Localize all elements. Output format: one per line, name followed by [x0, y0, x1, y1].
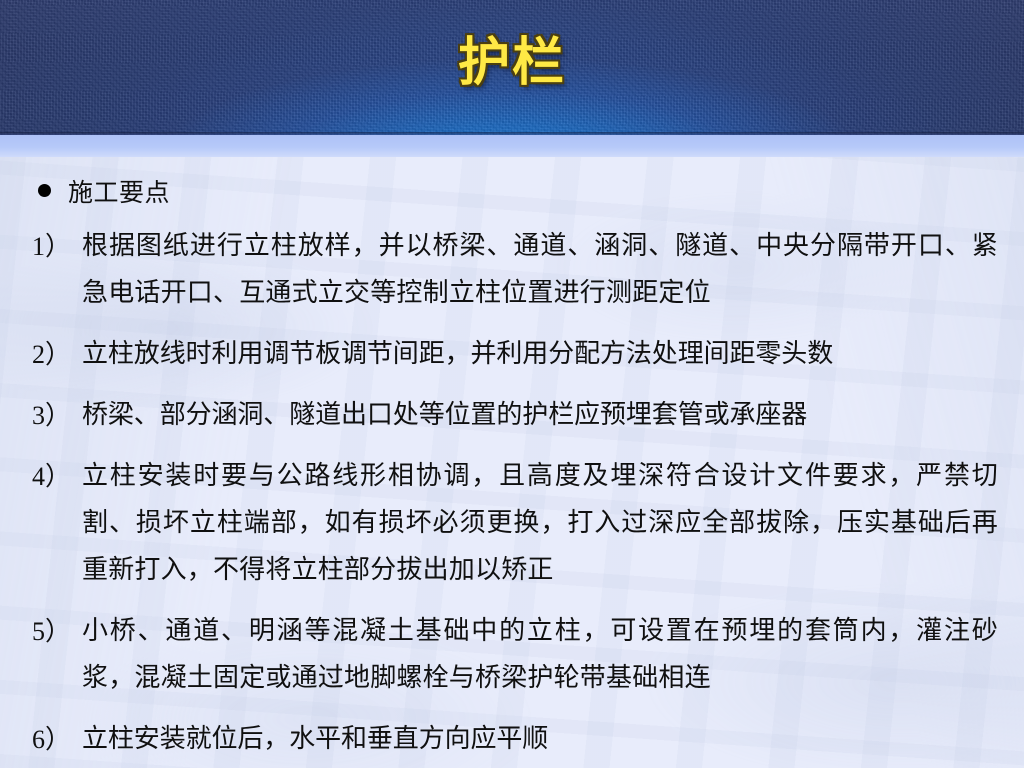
slide-content-area: 施工要点 1） 根据图纸进行立柱放样，并以桥梁、通道、涵洞、隧道、中央分隔带开口… — [0, 157, 1024, 768]
presentation-slide: 护栏 施工要点 1） 根据图纸进行立柱放样，并以桥梁、通道、涵洞、隧道、中央分隔… — [0, 0, 1024, 768]
section-heading: 施工要点 — [38, 173, 998, 209]
list-item: 1） 根据图纸进行立柱放样，并以桥梁、通道、涵洞、隧道、中央分隔带开口、紧急电话… — [28, 223, 998, 317]
accent-divider-band — [0, 135, 1024, 157]
list-item: 6） 立柱安装就位后，水平和垂直方向应平顺 — [28, 716, 998, 763]
numbered-list: 1） 根据图纸进行立柱放样，并以桥梁、通道、涵洞、隧道、中央分隔带开口、紧急电话… — [28, 223, 998, 763]
list-item: 5） 小桥、通道、明涵等混凝土基础中的立柱，可设置在预埋的套筒内，灌注砂浆，混凝… — [28, 608, 998, 702]
list-item-number: 3） — [28, 392, 82, 439]
list-item: 2） 立柱放线时利用调节板调节间距，并利用分配方法处理间距零头数 — [28, 331, 998, 378]
list-item-number: 5） — [28, 608, 82, 655]
list-item-text: 根据图纸进行立柱放样，并以桥梁、通道、涵洞、隧道、中央分隔带开口、紧急电话开口、… — [82, 223, 998, 317]
list-item-text: 桥梁、部分涵洞、隧道出口处等位置的护栏应预埋套管或承座器 — [82, 392, 998, 439]
list-item-number: 1） — [28, 223, 82, 270]
bullet-dot-icon — [38, 184, 51, 197]
list-item-number: 2） — [28, 331, 82, 378]
list-item-text: 小桥、通道、明涵等混凝土基础中的立柱，可设置在预埋的套筒内，灌注砂浆，混凝土固定… — [82, 608, 998, 702]
list-item-text: 立柱安装时要与公路线形相协调，且高度及埋深符合设计文件要求，严禁切割、损坏立柱端… — [82, 453, 998, 594]
list-item-text: 立柱放线时利用调节板调节间距，并利用分配方法处理间距零头数 — [82, 331, 998, 378]
list-item: 4） 立柱安装时要与公路线形相协调，且高度及埋深符合设计文件要求，严禁切割、损坏… — [28, 453, 998, 594]
slide-title-band: 护栏 — [0, 0, 1024, 135]
list-item: 3） 桥梁、部分涵洞、隧道出口处等位置的护栏应预埋套管或承座器 — [28, 392, 998, 439]
list-item-number: 4） — [28, 453, 82, 500]
slide-title: 护栏 — [0, 36, 1024, 91]
list-item-text: 立柱安装就位后，水平和垂直方向应平顺 — [82, 716, 998, 763]
content-inner: 施工要点 1） 根据图纸进行立柱放样，并以桥梁、通道、涵洞、隧道、中央分隔带开口… — [0, 157, 1024, 763]
section-heading-label: 施工要点 — [68, 173, 170, 209]
list-item-number: 6） — [28, 716, 82, 763]
